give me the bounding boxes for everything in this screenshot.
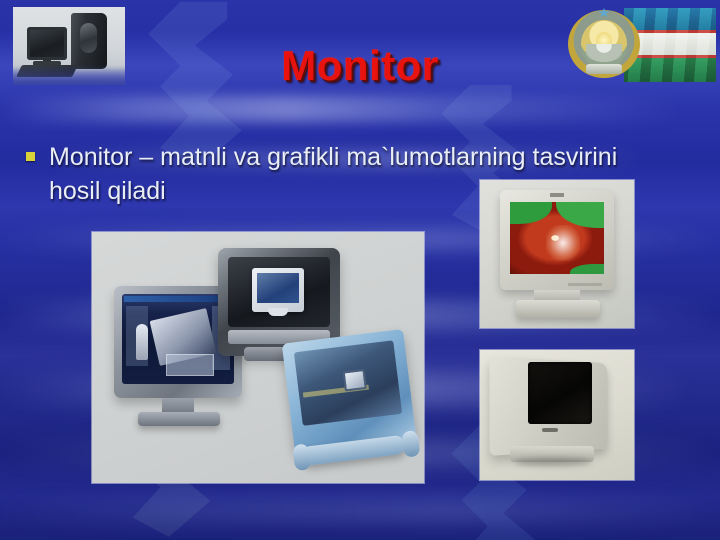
- beige-crt-dark-screen-photo: [480, 350, 634, 480]
- brand-logo-mark: [550, 193, 564, 197]
- lcd-stand-knob: [401, 430, 420, 458]
- screen-green-blob: [570, 264, 604, 274]
- presentation-slide: Monitor Monitor – matnli va grafikli ma`…: [0, 0, 720, 540]
- inner-screen: [257, 273, 299, 303]
- crt-screen-graphic: [528, 362, 592, 424]
- crt-drop-shadow: [514, 458, 592, 466]
- lcd-screen-chip-graphic: [343, 369, 367, 392]
- background-streak: [0, 500, 720, 522]
- lcd-screen-graphic: [294, 340, 402, 426]
- crt-base-graphic: [516, 300, 600, 318]
- screen-inner-monitor-graphic: [252, 268, 304, 312]
- crt-screen-graphic: [510, 202, 604, 274]
- beige-crt-color-screen-photo: [480, 180, 634, 328]
- three-monitors-photo: [92, 232, 424, 483]
- crt-case-graphic: [500, 190, 614, 290]
- screen-rocket-graphic: [136, 324, 148, 360]
- crt-power-button: [542, 428, 558, 432]
- screen-glow-highlight: [546, 225, 580, 261]
- screen-titlebar: [124, 296, 232, 302]
- crt-control-strip: [568, 283, 602, 286]
- background-streak: [0, 96, 720, 122]
- blue-lcd-monitor-graphic: [282, 329, 416, 453]
- inner-monitor-base: [268, 308, 288, 316]
- square-bullet-icon: [26, 152, 35, 161]
- screen-dialog-graphic: [166, 354, 214, 376]
- slide-title: Monitor: [0, 42, 720, 90]
- monitor-base-graphic: [138, 412, 220, 426]
- screen-green-blob: [510, 202, 552, 224]
